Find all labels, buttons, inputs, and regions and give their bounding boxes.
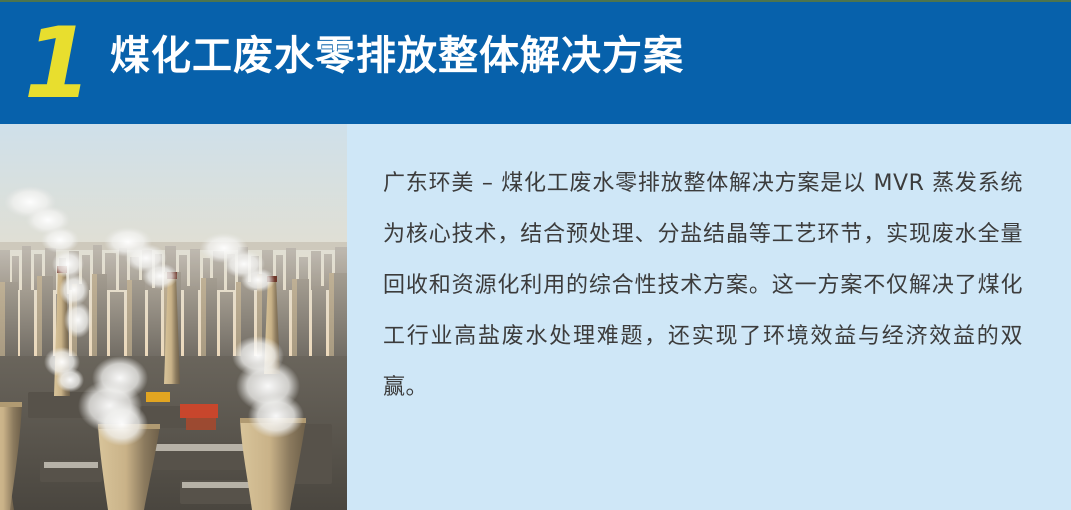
description-panel: 广东环美 – 煤化工废水零排放整体解决方案是以 MVR 蒸发系统为核心技术，结合… — [347, 124, 1071, 510]
yellow-structure — [146, 392, 170, 402]
section-number-badge: 1 — [22, 14, 92, 114]
content-area: 广东环美 – 煤化工废水零排放整体解决方案是以 MVR 蒸发系统为核心技术，结合… — [0, 124, 1071, 510]
page-title: 煤化工废水零排放整体解决方案 — [110, 30, 684, 82]
industrial-plant-photo — [0, 124, 347, 510]
description-paragraph: 广东环美 – 煤化工废水零排放整体解决方案是以 MVR 蒸发系统为核心技术，结合… — [383, 158, 1023, 413]
industrial-plant-photo-graphic — [0, 124, 347, 510]
orange-structure — [180, 404, 218, 418]
header-band: 1 煤化工废水零排放整体解决方案 — [0, 2, 1071, 124]
slide-root: 1 煤化工废水零排放整体解决方案 — [0, 0, 1071, 510]
